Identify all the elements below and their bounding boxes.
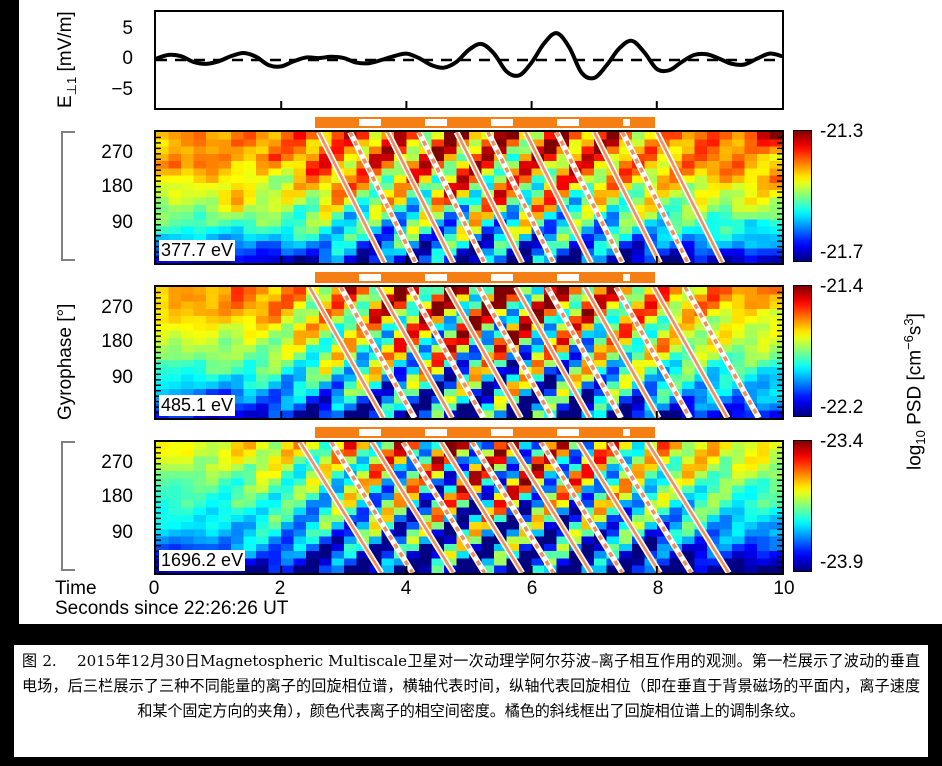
modulation-bar-connector — [491, 436, 513, 438]
modulation-bar-segment — [315, 427, 359, 438]
stripe-overlay-3 — [156, 442, 782, 573]
modulation-bar-segment — [630, 272, 655, 283]
modulation-bar-segment — [579, 117, 623, 128]
spectrogram-panel-3[interactable]: 1696.2 eV — [154, 440, 784, 575]
modulation-bar-connector — [557, 427, 579, 429]
gyro-ytick-180-p3: 180 — [77, 486, 133, 508]
modulation-bar-segment — [315, 272, 359, 283]
stripe-line-dashed — [410, 287, 484, 418]
stripe-line-solid — [585, 287, 659, 418]
modulation-bar-connector — [425, 117, 447, 119]
modulation-bar-segment — [381, 117, 425, 128]
modulation-bar-connector — [425, 427, 447, 429]
modulation-bar-connector — [491, 117, 513, 119]
figure-caption-box: 图 2. 2015年12月30日Magnetospheric Multiscal… — [14, 645, 928, 757]
modulation-bar-connector — [359, 126, 381, 128]
stripe-line-solid — [654, 287, 728, 418]
modulation-bar-segment — [381, 427, 425, 438]
modulation-bar-connector — [557, 126, 579, 128]
colorbar-max-2: -21.4 — [820, 276, 863, 298]
spectrogram-panel-2[interactable]: 485.1 eV — [154, 285, 784, 420]
gyrophase-bracket-top — [61, 131, 75, 261]
modulation-bar-connector — [359, 272, 381, 274]
modulation-bar-segment — [381, 272, 425, 283]
stripe-line-solid — [378, 287, 452, 418]
energy-label-panel-3: 1696.2 eV — [159, 550, 245, 571]
figure-caption-text: 图 2. 2015年12月30日Magnetospheric Multiscal… — [22, 649, 920, 724]
efield-ylabel: E⊥1 [mV/m] — [55, 11, 80, 108]
efield-plot-frame — [154, 10, 784, 110]
stripe-line-dashed — [685, 287, 759, 418]
gyrophase-axis-label: Gyrophase [°] — [55, 304, 77, 420]
colorbar-axis-label: log10 PSD [cm−6s3] — [901, 313, 928, 470]
xtick-2: 2 — [255, 578, 305, 600]
modulation-bar-connector — [425, 436, 447, 438]
colorbar-panel-1 — [793, 130, 812, 262]
stripe-line-solid — [447, 287, 521, 418]
colorbar-min-1: -21.7 — [820, 242, 863, 264]
stripe-line-dashed — [350, 132, 416, 263]
stripe-line-solid — [456, 132, 522, 263]
figure-canvas: 5 0 −5 E⊥1 [mV/m] 377.7 eV 485.1 eV 1696… — [19, 0, 942, 624]
modulation-bar-connector — [557, 281, 579, 283]
colorbar-panel-3 — [793, 440, 812, 572]
stripe-line-dashed — [488, 132, 554, 263]
modulation-bar-connector — [557, 117, 579, 119]
stripe-overlay-2 — [156, 287, 782, 418]
stripe-line-solid — [388, 132, 454, 263]
time-axis-prefix: Time — [55, 578, 97, 600]
energy-label-panel-2: 485.1 eV — [159, 395, 235, 416]
modulation-bar-panel-3 — [154, 427, 784, 438]
stripe-line-dashed — [419, 132, 485, 263]
modulation-bar-panel-2 — [154, 272, 784, 283]
gyro-ytick-180-p1: 180 — [77, 176, 133, 198]
stripe-line-solid — [647, 442, 728, 573]
xtick-4: 4 — [381, 578, 431, 600]
figure-root: 5 0 −5 E⊥1 [mV/m] 377.7 eV 485.1 eV 1696… — [0, 0, 942, 766]
stripe-line-solid — [525, 132, 591, 263]
xtick-10: 10 — [759, 578, 809, 600]
stripe-line-dashed — [547, 287, 621, 418]
modulation-bar-connector — [359, 281, 381, 283]
modulation-bar-segment — [513, 427, 557, 438]
colorbar-min-3: -23.9 — [820, 552, 863, 574]
gyrophase-bracket-bottom — [61, 441, 75, 571]
modulation-bar-segment — [579, 272, 623, 283]
stripe-line-solid — [309, 287, 383, 418]
stripe-line-solid — [319, 132, 385, 263]
time-axis-subtitle: Seconds since 22:26:26 UT — [55, 598, 288, 620]
modulation-bar-connector — [491, 427, 513, 429]
stripe-line-dashed — [557, 132, 623, 263]
modulation-bar-panel-1 — [154, 117, 784, 128]
modulation-bar-connector — [491, 281, 513, 283]
spectrogram-panel-1[interactable]: 377.7 eV — [154, 130, 784, 265]
xtick-8: 8 — [633, 578, 683, 600]
modulation-bar-segment — [579, 427, 623, 438]
gyro-ytick-270-p2: 270 — [77, 297, 133, 319]
colorbar-max-3: -23.4 — [820, 431, 863, 453]
modulation-bar-connector — [359, 427, 381, 429]
stripe-line-dashed — [622, 132, 688, 263]
modulation-bar-connector — [359, 436, 381, 438]
efield-ytick-5: 5 — [97, 18, 133, 40]
gyro-ytick-90-p3: 90 — [77, 522, 133, 544]
modulation-bar-connector — [425, 126, 447, 128]
gyro-ytick-270-p3: 270 — [77, 452, 133, 474]
stripe-overlay-1 — [156, 132, 782, 263]
colorbar-min-2: -22.2 — [820, 397, 863, 419]
modulation-bar-segment — [630, 117, 655, 128]
stripe-line-dashed — [341, 287, 415, 418]
energy-label-panel-1: 377.7 eV — [159, 240, 235, 261]
modulation-bar-connector — [359, 117, 381, 119]
xtick-6: 6 — [507, 578, 557, 600]
gyro-ytick-90-p2: 90 — [77, 367, 133, 389]
efield-ytick-minus5: −5 — [89, 79, 133, 101]
modulation-bar-connector — [557, 272, 579, 274]
modulation-bar-segment — [513, 117, 557, 128]
stripe-line-solid — [516, 287, 590, 418]
colorbar-panel-2 — [793, 285, 812, 417]
modulation-bar-connector — [425, 272, 447, 274]
modulation-bar-segment — [513, 272, 557, 283]
gyro-ytick-90-p1: 90 — [77, 212, 133, 234]
xtick-0: 0 — [129, 578, 179, 600]
efield-ytick-0: 0 — [97, 48, 133, 70]
colorbar-max-1: -21.3 — [820, 121, 863, 143]
modulation-bar-connector — [491, 126, 513, 128]
modulation-bar-connector — [557, 436, 579, 438]
efield-waveform — [156, 12, 782, 108]
modulation-bar-connector — [425, 281, 447, 283]
modulation-bar-segment — [447, 272, 491, 283]
modulation-bar-segment — [630, 427, 655, 438]
modulation-bar-segment — [447, 117, 491, 128]
gyro-ytick-270-p1: 270 — [77, 142, 133, 164]
modulation-bar-connector — [491, 272, 513, 274]
stripe-line-solid — [594, 132, 660, 263]
modulation-bar-segment — [315, 117, 359, 128]
stripe-line-solid — [657, 132, 723, 263]
gyro-ytick-180-p2: 180 — [77, 331, 133, 353]
modulation-bar-segment — [447, 427, 491, 438]
stripe-line-dashed — [478, 287, 552, 418]
stripe-line-dashed — [616, 287, 690, 418]
